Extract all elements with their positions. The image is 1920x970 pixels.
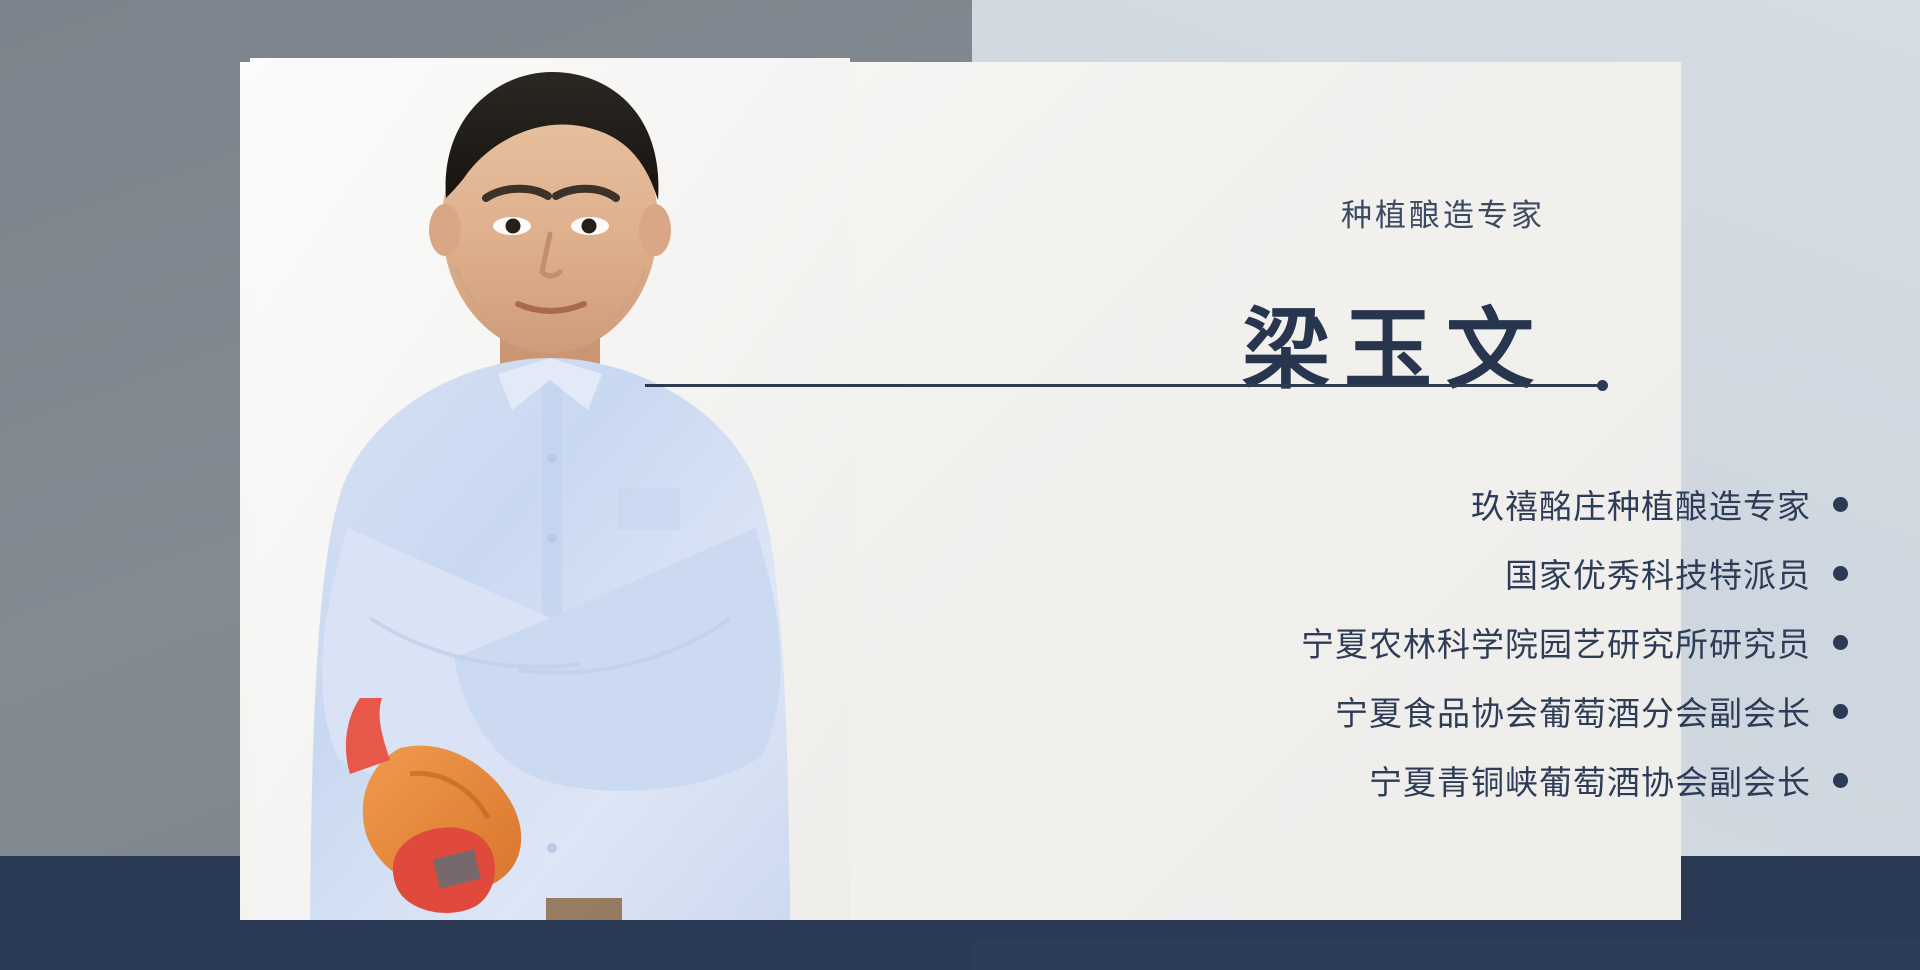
background-band-seam bbox=[972, 940, 1920, 970]
bullet-icon bbox=[1833, 566, 1848, 581]
credentials-list: 玖禧酩庄种植酿造专家 国家优秀科技特派员 宁夏农林科学院园艺研究所研究员 宁夏食… bbox=[1008, 480, 1848, 804]
divider-rule bbox=[645, 384, 1598, 387]
divider-end-dot-icon bbox=[1597, 380, 1608, 391]
profile-eyebrow: 种植酿造专家 bbox=[1341, 190, 1545, 235]
credential-label: 玖禧酩庄种植酿造专家 bbox=[1471, 480, 1811, 528]
profile-banner: 种植酿造专家 梁玉文 玖禧酩庄种植酿造专家 国家优秀科技特派员 宁夏农林科学院园… bbox=[0, 0, 1920, 970]
credential-label: 宁夏农林科学院园艺研究所研究员 bbox=[1301, 618, 1811, 666]
bullet-icon bbox=[1833, 704, 1848, 719]
bullet-icon bbox=[1833, 635, 1848, 650]
divider bbox=[645, 383, 1608, 388]
list-item: 宁夏农林科学院园艺研究所研究员 bbox=[1301, 618, 1848, 666]
list-item: 玖禧酩庄种植酿造专家 bbox=[1471, 480, 1848, 528]
list-item: 宁夏青铜峡葡萄酒协会副会长 bbox=[1369, 756, 1848, 804]
list-item: 国家优秀科技特派员 bbox=[1505, 549, 1848, 597]
credential-label: 宁夏青铜峡葡萄酒协会副会长 bbox=[1369, 756, 1811, 804]
list-item: 宁夏食品协会葡萄酒分会副会长 bbox=[1335, 687, 1848, 735]
bullet-icon bbox=[1833, 497, 1848, 512]
credential-label: 国家优秀科技特派员 bbox=[1505, 549, 1811, 597]
credential-label: 宁夏食品协会葡萄酒分会副会长 bbox=[1335, 687, 1811, 735]
bullet-icon bbox=[1833, 773, 1848, 788]
